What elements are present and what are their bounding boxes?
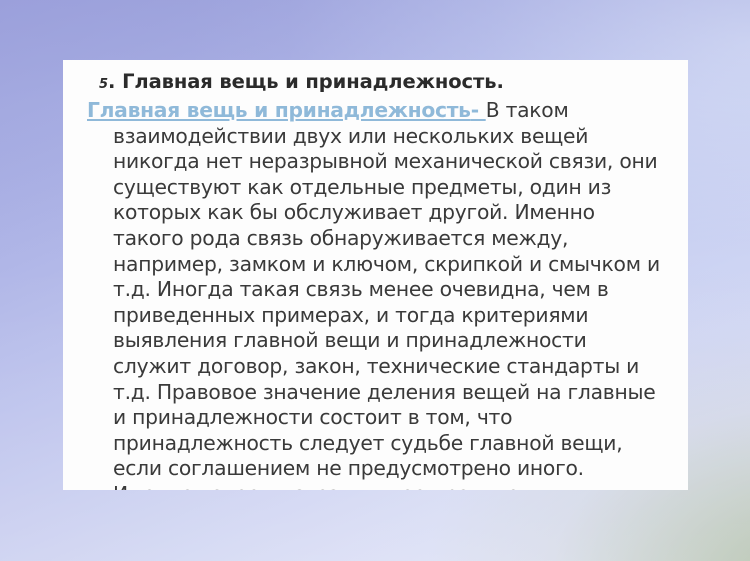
body-text: В таком взаимодействии двух или нескольк… (113, 98, 660, 490)
slide-canvas: 5. Главная вещь и принадлежность. Главна… (0, 0, 750, 561)
card-inner: 5. Главная вещь и принадлежность. Главна… (63, 60, 688, 490)
slide-title-number: 5 (99, 77, 108, 92)
slide-title: 5. Главная вещь и принадлежность. (99, 69, 672, 97)
slide-title-text: Главная вещь и принадлежность. (122, 70, 504, 93)
body-block: Главная вещь и принадлежность- В таком в… (81, 98, 672, 490)
content-card: 5. Главная вещь и принадлежность. Главна… (63, 60, 688, 490)
lead-in-link[interactable]: Главная вещь и принадлежность (87, 98, 471, 122)
lead-in-separator: - (471, 98, 486, 122)
slide-title-number-dot: . (108, 70, 115, 93)
body-paragraph: Главная вещь и принадлежность- В таком в… (87, 98, 670, 490)
